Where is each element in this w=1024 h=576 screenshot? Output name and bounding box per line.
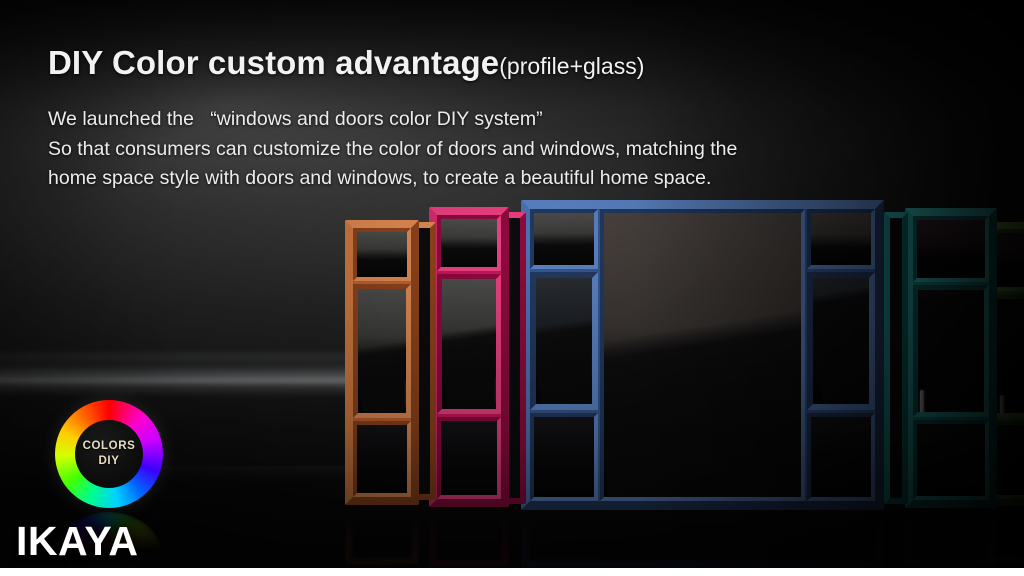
- diy-label: DIY: [99, 455, 120, 468]
- page-title: DIY Color custom advantage(profile+glass…: [48, 44, 644, 82]
- page-title-main: DIY Color custom advantage: [48, 44, 499, 81]
- colors-label: COLORS: [83, 440, 136, 453]
- colors-diy-logo[interactable]: COLORS DIY: [55, 400, 163, 508]
- description-text: We launched the “windows and doors color…: [48, 105, 737, 194]
- color-wheel-label: COLORS DIY: [75, 420, 143, 488]
- page-title-sub: (profile+glass): [499, 53, 644, 79]
- slide-canvas: DIY Color custom advantage(profile+glass…: [0, 0, 1024, 576]
- bottom-white-strip: [0, 568, 1024, 576]
- brand-wordmark: IKAYA: [16, 518, 139, 565]
